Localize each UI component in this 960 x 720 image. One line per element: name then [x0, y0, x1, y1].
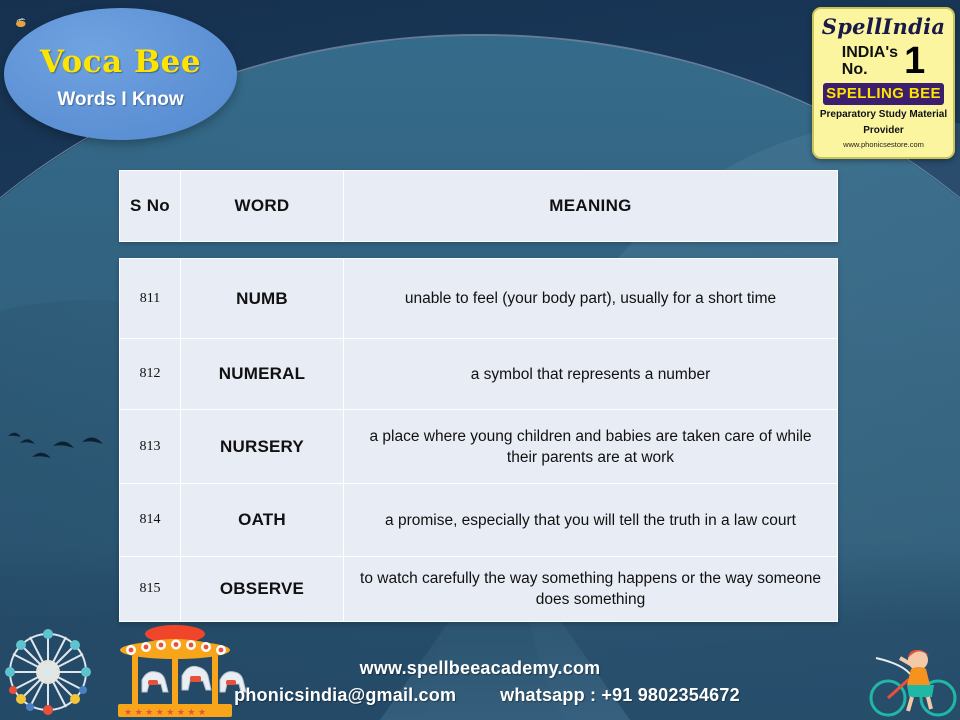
cell-word: NURSERY	[181, 410, 344, 483]
logo-tagline-line1: Preparatory Study Material	[818, 109, 949, 121]
footer-whatsapp: whatsapp : +91 9802354672	[500, 685, 740, 706]
column-header-sno: S No	[120, 171, 181, 241]
voca-bee-badge: Voca Bee Words I Know	[4, 8, 237, 140]
cell-word: OBSERVE	[181, 557, 344, 621]
table-row: 815 OBSERVE to watch carefully the way s…	[120, 557, 837, 621]
bee-icon	[12, 18, 28, 28]
footer-contact-row: phonicsindia@gmail.com whatsapp : +91 98…	[0, 685, 960, 706]
cell-meaning: a promise, especially that you will tell…	[344, 510, 837, 531]
logo-rank-row: INDIA's No. 1	[818, 42, 949, 80]
cell-word: NUMERAL	[181, 339, 344, 409]
slide-canvas: Voca Bee Words I Know SpellIndia INDIA's…	[0, 0, 960, 720]
logo-indias-label: INDIA's	[842, 44, 898, 61]
column-header-meaning: MEANING	[344, 196, 837, 216]
voca-bee-title: Voca Bee	[40, 44, 201, 80]
logo-website-url: www.phonicsestore.com	[818, 140, 949, 149]
cell-sno: 811	[120, 259, 181, 338]
logo-no-label: No.	[842, 61, 898, 78]
cell-meaning: unable to feel (your body part), usually…	[344, 288, 837, 309]
table-row: 813 NURSERY a place where young children…	[120, 410, 837, 484]
cell-meaning: a place where young children and babies …	[344, 426, 837, 468]
logo-spelling-bee-bar: SPELLING BEE	[823, 83, 944, 105]
svg-text:★ ★ ★ ★ ★ ★ ★ ★: ★ ★ ★ ★ ★ ★ ★ ★	[124, 707, 206, 717]
flying-birds-icon	[6, 418, 116, 478]
cell-meaning: to watch carefully the way something hap…	[344, 568, 837, 610]
table-row: 814 OATH a promise, especially that you …	[120, 484, 837, 557]
cell-word: NUMB	[181, 259, 344, 338]
logo-rank-labels: INDIA's No.	[842, 44, 898, 78]
voca-bee-subtitle: Words I Know	[57, 89, 183, 111]
table-row: 812 NUMERAL a symbol that represents a n…	[120, 339, 837, 410]
cell-sno: 815	[120, 557, 181, 621]
logo-rank-number: 1	[904, 42, 925, 80]
logo-brand-name: SpellIndia	[818, 14, 949, 40]
logo-tagline-line2: Provider	[818, 125, 949, 137]
column-header-word: WORD	[181, 171, 344, 241]
spellindia-logo: SpellIndia INDIA's No. 1 SPELLING BEE Pr…	[812, 7, 955, 159]
table-header: S No WORD MEANING	[119, 170, 838, 242]
footer-website: www.spellbeeacademy.com	[0, 658, 960, 679]
cell-sno: 812	[120, 339, 181, 409]
cell-meaning: a symbol that represents a number	[344, 364, 837, 385]
footer: www.spellbeeacademy.com phonicsindia@gma…	[0, 658, 960, 706]
table-row: 811 NUMB unable to feel (your body part)…	[120, 259, 837, 339]
cell-sno: 813	[120, 410, 181, 483]
cell-sno: 814	[120, 484, 181, 556]
footer-email: phonicsindia@gmail.com	[234, 685, 456, 706]
cell-word: OATH	[181, 484, 344, 556]
table-body: 811 NUMB unable to feel (your body part)…	[119, 258, 838, 622]
